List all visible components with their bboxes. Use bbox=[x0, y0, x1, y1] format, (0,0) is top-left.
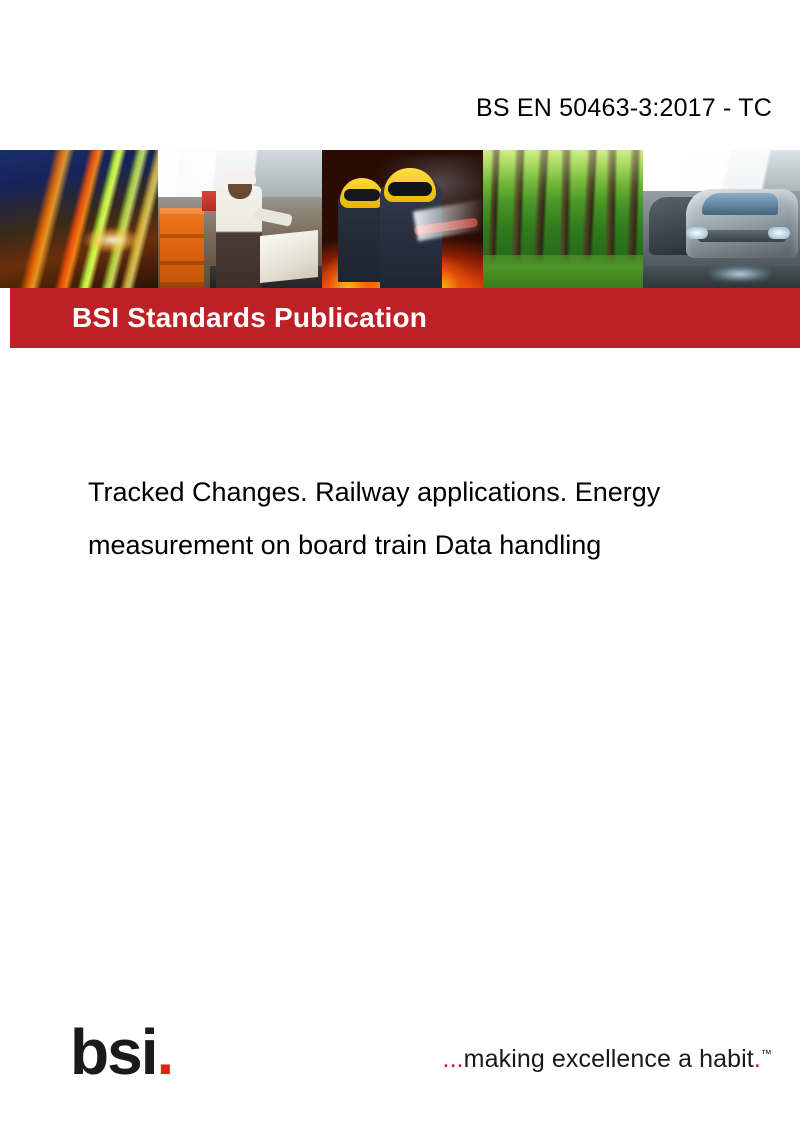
photo-panel-night-light-trails bbox=[0, 150, 158, 288]
forest-floor bbox=[483, 255, 643, 288]
car-headlamp-right bbox=[768, 227, 790, 239]
title-line-2: measurement on board train Data handling bbox=[88, 519, 778, 572]
worker-cap bbox=[224, 171, 256, 184]
forest-sunlight bbox=[483, 150, 643, 205]
publisher-banner-label: BSI Standards Publication bbox=[72, 302, 427, 334]
factory-roof-lights bbox=[643, 150, 800, 191]
car-windshield bbox=[702, 193, 778, 215]
orange-crate bbox=[160, 208, 204, 288]
tagline-ellipsis: ... bbox=[443, 1045, 464, 1073]
bsi-logo: bsi. bbox=[70, 1020, 172, 1084]
publisher-banner: BSI Standards Publication bbox=[10, 288, 800, 348]
photo-panel-firefighters bbox=[322, 150, 483, 288]
photo-panel-car-assembly-line bbox=[643, 150, 800, 288]
bsi-logo-text: bsi bbox=[70, 1016, 156, 1088]
firefighter-rear-mask bbox=[344, 189, 380, 201]
standard-reference: BS EN 50463-3:2017 - TC bbox=[476, 94, 772, 123]
title-line-1: Tracked Changes. Railway applications. E… bbox=[88, 466, 778, 519]
document-cover-page: BS EN 50463-3:2017 - TC bbox=[0, 0, 800, 1132]
page-title: Tracked Changes. Railway applications. E… bbox=[88, 466, 778, 572]
floor-reflection bbox=[710, 266, 770, 282]
worker-body bbox=[216, 186, 262, 288]
bsi-tagline: ...making excellence a habit.™ bbox=[443, 1045, 772, 1074]
photo-panel-warehouse-worker bbox=[158, 150, 322, 288]
car-headlamp-left bbox=[686, 227, 708, 239]
bsi-logo-dot: . bbox=[156, 1016, 172, 1088]
trademark-icon: ™ bbox=[761, 1049, 772, 1061]
photo-strip bbox=[0, 150, 800, 288]
cardboard-box bbox=[260, 230, 318, 283]
tagline-text: making excellence a habit bbox=[464, 1045, 754, 1073]
firefighter-front-mask bbox=[388, 182, 432, 196]
photo-panel-forest bbox=[483, 150, 643, 288]
tagline-dot: . bbox=[754, 1045, 761, 1073]
